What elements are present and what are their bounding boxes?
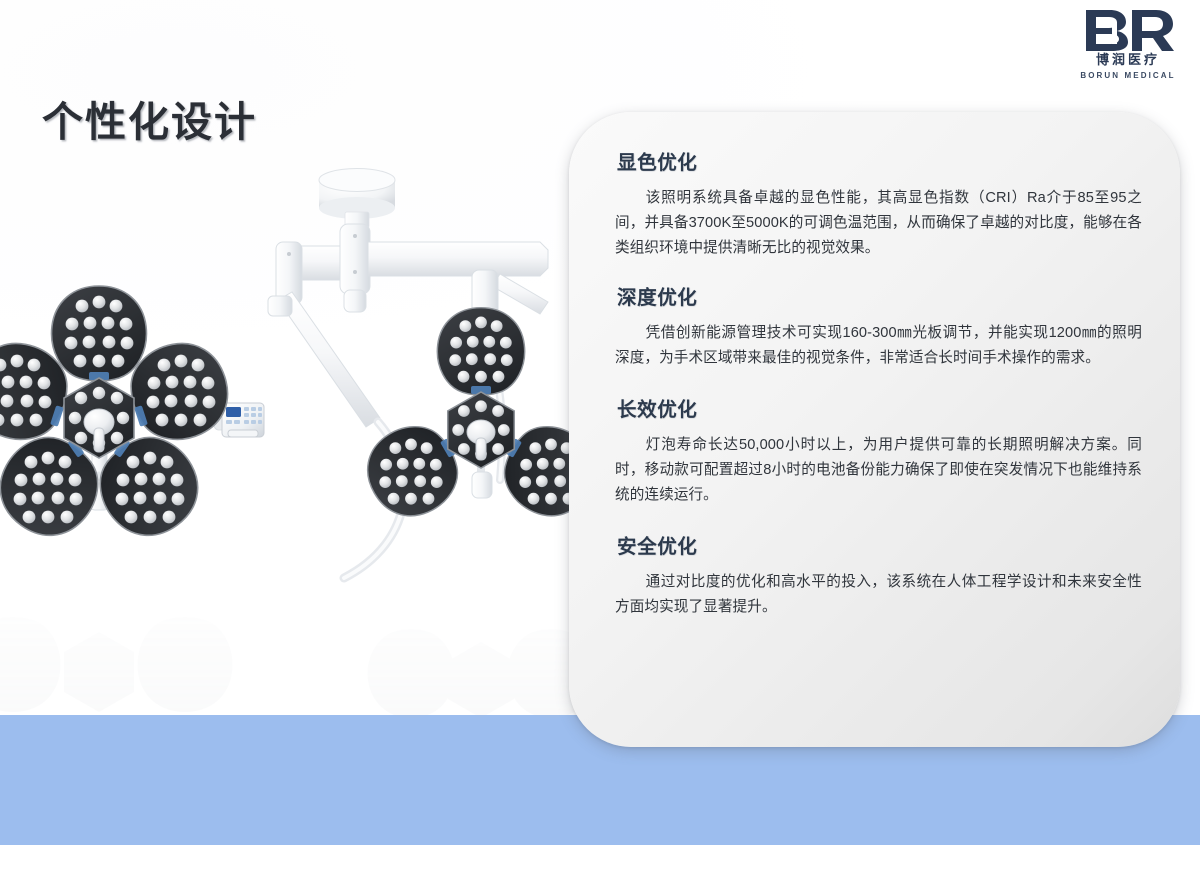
lamp-head-left xyxy=(0,286,404,578)
section-heading: 深度优化 xyxy=(617,281,1142,310)
section-heading: 安全优化 xyxy=(617,530,1142,559)
section-body: 该照明系统具备卓越的显色性能，其高显色指数（CRI）Ra介于85至95之间，并具… xyxy=(615,186,1142,261)
slide-root: 博润医疗 BORUN MEDICAL 个性化设计 显色优化 该照明系统具备卓越的… xyxy=(0,0,1200,877)
section-body: 通过对比度的优化和高水平的投入，该系统在人体工程学设计和未来安全性方面均实现了显… xyxy=(615,570,1142,620)
logo-chinese-name: 博润医疗 xyxy=(1074,53,1182,67)
feature-section-color-rendering: 显色优化 该照明系统具备卓越的显色性能，其高显色指数（CRI）Ra介于85至95… xyxy=(615,146,1142,261)
feature-section-longevity: 长效优化 灯泡寿命长达50,000小时以上，为用户提供可靠的长期照明解决方案。同… xyxy=(615,393,1142,508)
logo-mark-br-icon xyxy=(1074,8,1182,52)
feature-panel: 显色优化 该照明系统具备卓越的显色性能，其高显色指数（CRI）Ra介于85至95… xyxy=(569,112,1180,747)
feature-section-safety: 安全优化 通过对比度的优化和高水平的投入，该系统在人体工程学设计和未来安全性方面… xyxy=(615,530,1142,620)
page-title: 个性化设计 xyxy=(42,88,257,148)
section-body: 灯泡寿命长达50,000小时以上，为用户提供可靠的长期照明解决方案。同时，移动款… xyxy=(615,433,1142,508)
section-heading: 长效优化 xyxy=(617,393,1142,422)
logo-english-name: BORUN MEDICAL xyxy=(1074,70,1182,81)
section-heading: 显色优化 xyxy=(617,146,1142,175)
section-body: 凭借创新能源管理技术可实现160-300㎜光板调节，并能实现1200㎜的照明深度… xyxy=(615,321,1142,371)
surgical-lamp-illustration xyxy=(0,150,620,710)
bottom-white-strip xyxy=(0,845,1200,877)
company-logo: 博润医疗 BORUN MEDICAL xyxy=(1074,8,1182,84)
feature-section-depth: 深度优化 凭借创新能源管理技术可实现160-300㎜光板调节，并能实现1200㎜… xyxy=(615,281,1142,371)
ceiling-mount xyxy=(319,169,395,229)
